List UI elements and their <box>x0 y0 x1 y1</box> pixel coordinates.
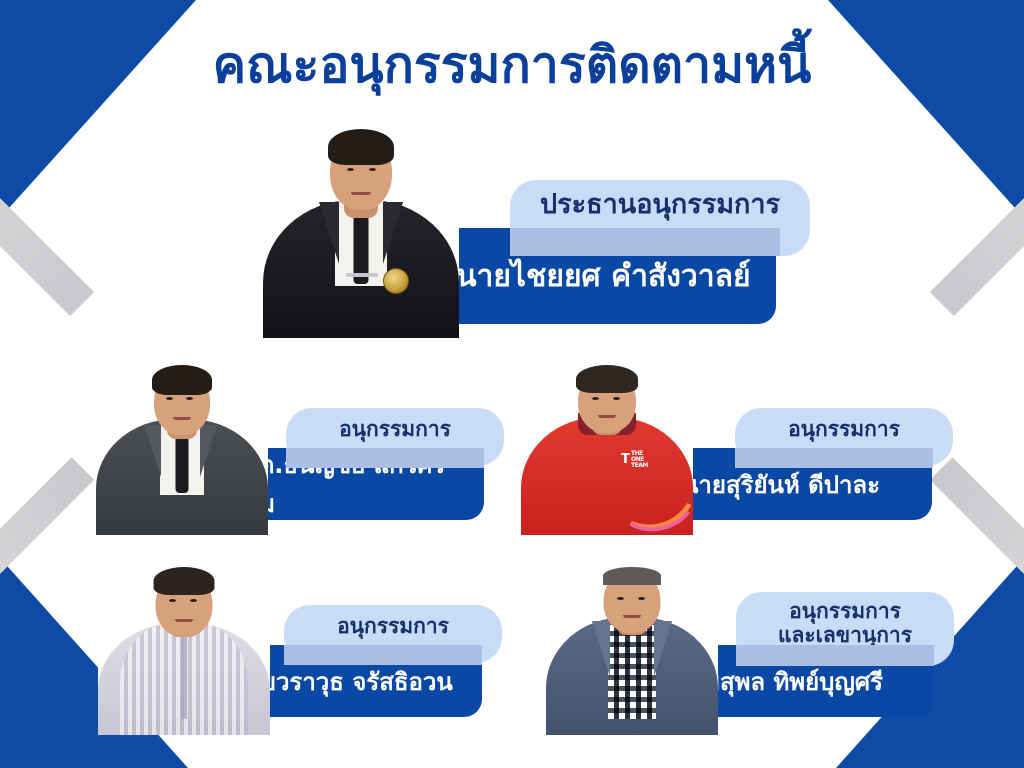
member-name-president: นายไชยยศ คำสังวาลย์ <box>456 253 776 300</box>
member-photo-r2c2: T THEONETEAM <box>521 357 693 535</box>
page-title: คณะอนุกรรมการติดตามหนี้ <box>0 38 1024 93</box>
corner-decoration-top-right-gray-stripe <box>930 80 1024 316</box>
member-name-r2c1: ด.ต.ธนัญชัย แก้วศรีงาม <box>234 445 484 523</box>
member-photo-r3c1 <box>98 557 270 735</box>
member-photo-r2c1 <box>96 357 268 535</box>
role-badge-text-r3c2: อนุกรรมการและเลขานุการ <box>778 599 912 647</box>
member-photo-r3c2 <box>546 557 718 735</box>
corner-decoration-bottom-right-navy <box>981 453 1024 768</box>
corner-decoration-bottom-left-navy <box>0 453 43 768</box>
poster-canvas: คณะอนุกรรมการติดตามหนี้ <box>0 0 1024 768</box>
corner-decoration-top-left-blue <box>0 0 196 218</box>
corner-decoration-top-left-gray-stripe <box>0 80 94 316</box>
corner-decoration-top-right-blue <box>828 0 1024 218</box>
member-name-r2c2: นายสุริยันห์ ดีปาละ <box>682 465 932 504</box>
corner-decoration-bottom-left-gray-stripe <box>0 457 94 692</box>
member-photo-president <box>263 118 459 338</box>
